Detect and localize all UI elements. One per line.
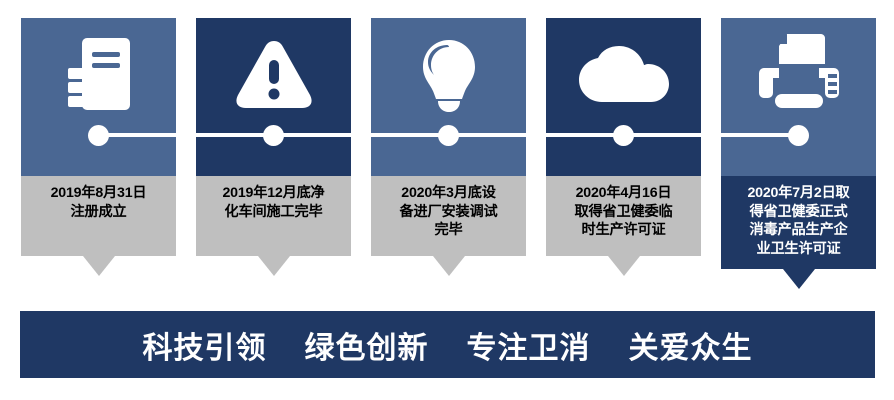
milestone-4-icon-box — [546, 18, 701, 176]
milestone-5-icon-box — [721, 18, 876, 176]
milestone-dot-1 — [88, 125, 109, 146]
milestone-4-label: 2020年4月16日 取得省卫健委临 时生产许可证 — [546, 176, 701, 256]
milestone-1-line-1: 2019年8月31日 — [27, 184, 170, 203]
milestone-card-5[interactable]: 2020年7月2日取 得省卫健委正式 消毒产品生产企 业卫生许可证 — [721, 18, 876, 289]
lightbulb-icon — [420, 38, 478, 114]
milestone-4-line-2: 取得省卫健委临 — [552, 203, 695, 222]
milestone-5-line-2: 得省卫健委正式 — [727, 203, 870, 222]
timeline-infographic: 2019年8月31日 注册成立 2019年12月底净 化车间施工完毕 — [0, 0, 894, 400]
milestone-5-label: 2020年7月2日取 得省卫健委正式 消毒产品生产企 业卫生许可证 — [721, 176, 876, 269]
milestone-2-label: 2019年12月底净 化车间施工完毕 — [196, 176, 351, 256]
milestone-card-2[interactable]: 2019年12月底净 化车间施工完毕 — [196, 18, 351, 276]
milestone-dot-2 — [263, 125, 284, 146]
notebook-icon — [68, 38, 130, 110]
milestone-1-arrow — [83, 256, 115, 276]
milestone-card-1[interactable]: 2019年8月31日 注册成立 — [21, 18, 176, 276]
cloud-icon — [578, 46, 670, 104]
warning-triangle-icon — [234, 38, 314, 110]
slogan-item-1: 科技引领 — [143, 323, 267, 367]
milestone-5-line-3: 消毒产品生产企 — [727, 221, 870, 240]
milestone-5-line-4: 业卫生许可证 — [727, 240, 870, 259]
slogan-item-2: 绿色创新 — [305, 323, 429, 367]
milestone-1-icon-box — [21, 18, 176, 176]
slogan-item-3: 专注卫消 — [467, 323, 591, 367]
milestone-2-line-1: 2019年12月底净 — [202, 184, 345, 203]
milestone-1-line-2: 注册成立 — [27, 203, 170, 222]
milestone-card-3[interactable]: 2020年3月底设 备进厂安装调试 完毕 — [371, 18, 526, 276]
milestone-1-label: 2019年8月31日 注册成立 — [21, 176, 176, 256]
milestone-dot-4 — [613, 125, 634, 146]
milestone-4-line-3: 时生产许可证 — [552, 221, 695, 240]
slogan-item-4: 关爱众生 — [629, 323, 753, 367]
milestone-card-4[interactable]: 2020年4月16日 取得省卫健委临 时生产许可证 — [546, 18, 701, 276]
milestone-dot-3 — [438, 125, 459, 146]
milestone-5-arrow — [783, 269, 815, 289]
milestone-3-label: 2020年3月底设 备进厂安装调试 完毕 — [371, 176, 526, 256]
fax-printer-icon — [757, 32, 841, 112]
slogan-banner: 科技引领 绿色创新 专注卫消 关爱众生 — [20, 311, 875, 378]
milestone-3-icon-box — [371, 18, 526, 176]
milestone-4-arrow — [608, 256, 640, 276]
milestone-dot-5 — [788, 125, 809, 146]
milestone-3-line-2: 备进厂安装调试 — [377, 203, 520, 222]
milestone-3-line-1: 2020年3月底设 — [377, 184, 520, 203]
milestone-4-line-1: 2020年4月16日 — [552, 184, 695, 203]
timeline-section: 2019年8月31日 注册成立 2019年12月底净 化车间施工完毕 — [0, 0, 894, 292]
milestone-3-line-3: 完毕 — [377, 221, 520, 240]
milestone-2-icon-box — [196, 18, 351, 176]
milestone-3-arrow — [433, 256, 465, 276]
milestone-5-line-1: 2020年7月2日取 — [727, 184, 870, 203]
milestone-2-arrow — [258, 256, 290, 276]
milestone-2-line-2: 化车间施工完毕 — [202, 203, 345, 222]
